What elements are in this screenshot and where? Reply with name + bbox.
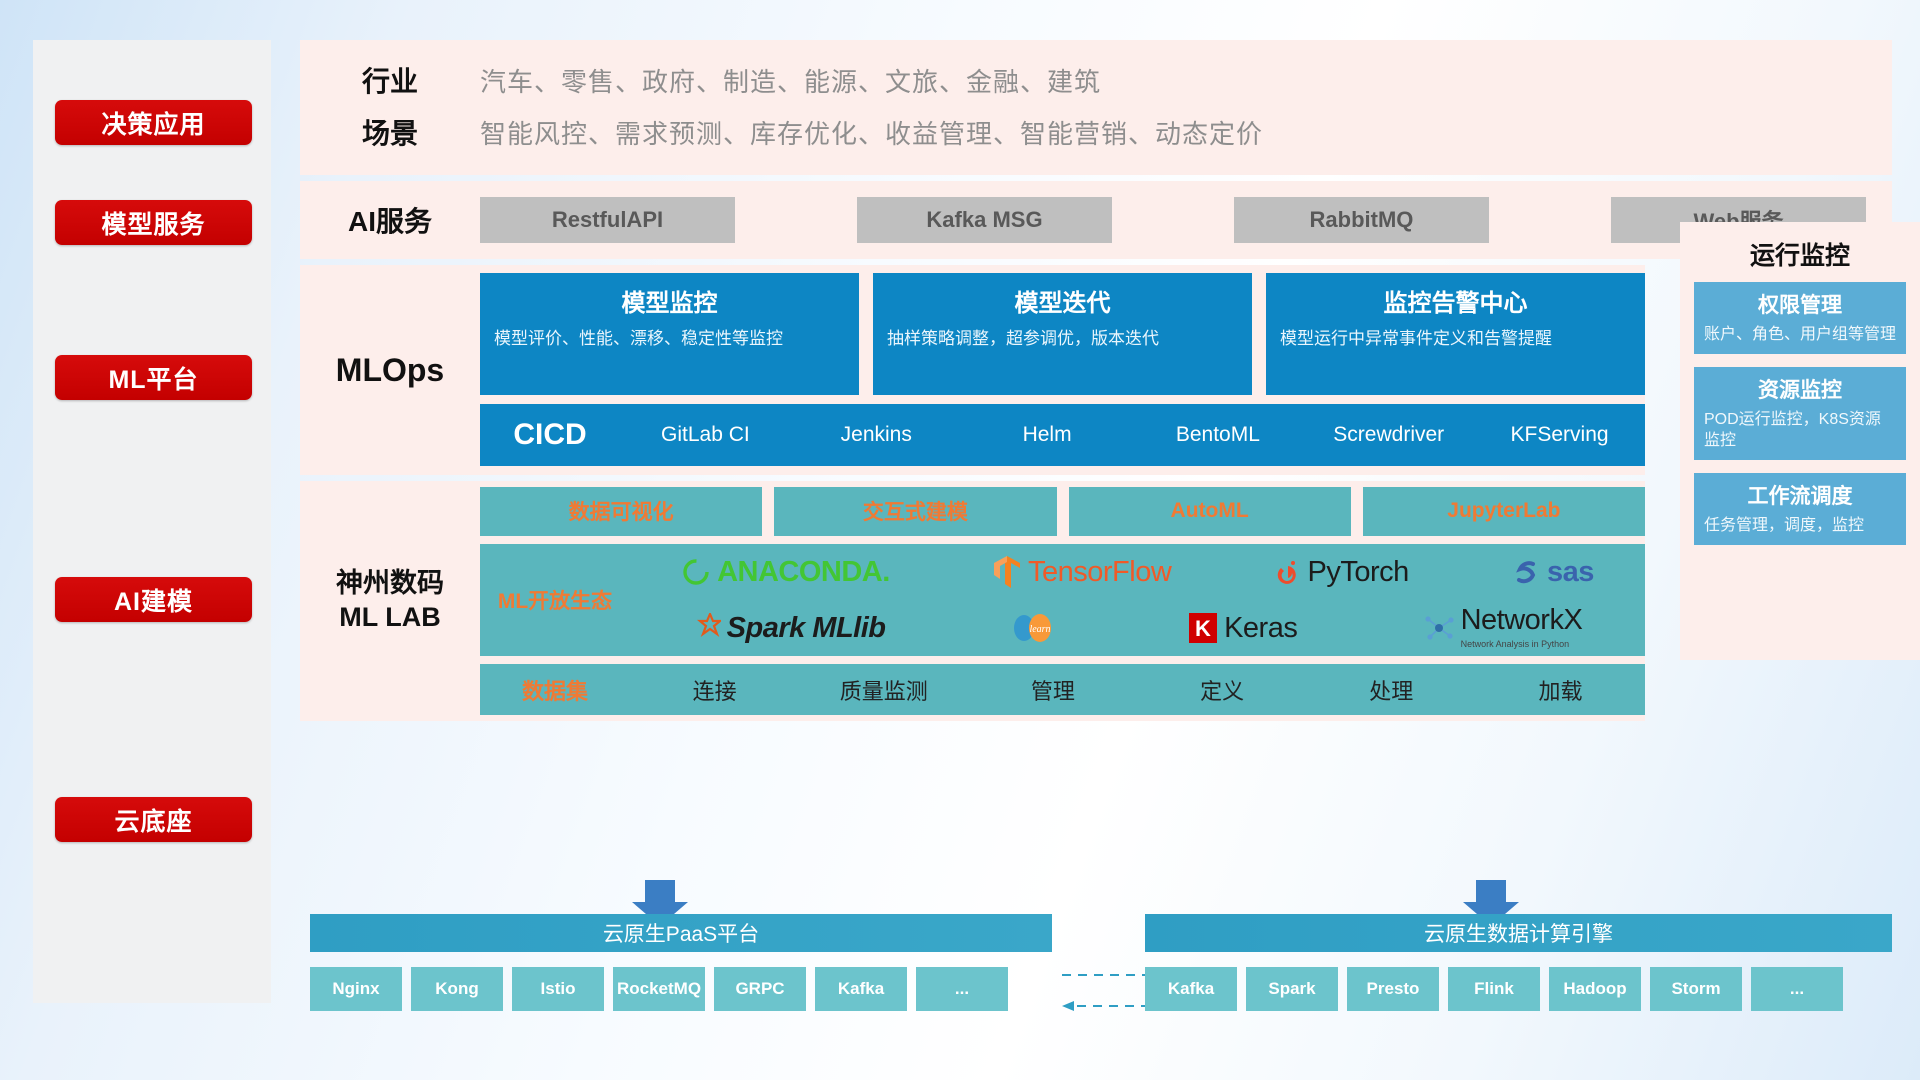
panel-card-resource-monitoring[interactable]: 资源监控 POD运行监控，K8S资源监控 — [1694, 367, 1906, 460]
cicd-item-jenkins[interactable]: Jenkins — [791, 424, 962, 446]
panel-card-workflow-scheduling[interactable]: 工作流调度 任务管理，调度，监控 — [1694, 473, 1906, 545]
engine-title-bar: 云原生数据计算引擎 — [1145, 914, 1892, 952]
ml-lab-label-line1: 神州数码 — [336, 567, 444, 601]
cicd-item-screwdriver[interactable]: Screwdriver — [1303, 424, 1474, 446]
cicd-item-helm[interactable]: Helm — [962, 424, 1133, 446]
keras-logo-text: Keras — [1224, 612, 1297, 645]
rail-badge-decision-app[interactable]: 决策应用 — [55, 100, 252, 145]
ml-lab-label: 神州数码 ML LAB — [300, 481, 480, 721]
engine-chip-flink[interactable]: Flink — [1448, 967, 1540, 1011]
card-title: 模型监控 — [494, 283, 845, 318]
pytorch-logo: PyTorch — [1274, 556, 1409, 589]
cicd-item-gitlab-ci[interactable]: GitLab CI — [620, 424, 791, 446]
lab-tab-interactive-modeling[interactable]: 交互式建模 — [774, 487, 1056, 536]
band-mlops: MLOps 模型监控 模型评价、性能、漂移、稳定性等监控 模型迭代 抽样策略调整… — [300, 265, 1645, 475]
lab-tab-automl[interactable]: AutoML — [1069, 487, 1351, 536]
dataset-item-list: 连接 质量监测 管理 定义 处理 加载 — [630, 674, 1645, 706]
card-desc: POD运行监控，K8S资源监控 — [1704, 409, 1896, 451]
spark-logo-text: Spark MLlib — [727, 612, 886, 645]
card-title: 资源监控 — [1704, 374, 1896, 404]
left-rail: 决策应用 模型服务 ML平台 AI建模 云底座 — [33, 40, 271, 1003]
rail-badge-ai-modeling[interactable]: AI建模 — [55, 577, 252, 622]
dataset-label: 数据集 — [480, 674, 630, 706]
ai-chip-rabbitmq[interactable]: RabbitMQ — [1234, 197, 1489, 243]
keras-icon: K — [1188, 612, 1218, 644]
rail-badge-model-service[interactable]: 模型服务 — [55, 200, 252, 245]
dataset-item-manage[interactable]: 管理 — [968, 674, 1137, 706]
paas-group: 云原生PaaS平台 Nginx Kong Istio RocketMQ GRPC… — [310, 914, 1052, 1011]
mlops-card-list: 模型监控 模型评价、性能、漂移、稳定性等监控 模型迭代 抽样策略调整，超参调优，… — [480, 273, 1645, 395]
main-architecture-column: 行业 汽车、零售、政府、制造、能源、文旅、金融、建筑 场景 智能风控、需求预测、… — [300, 40, 1892, 727]
networkx-logo-text: NetworkX — [1461, 606, 1583, 635]
anaconda-logo-text: ANACONDA. — [717, 556, 890, 589]
svg-text:learn: learn — [1029, 624, 1050, 635]
card-desc: 模型评价、性能、漂移、稳定性等监控 — [494, 328, 845, 351]
paas-chip-kong[interactable]: Kong — [411, 967, 503, 1011]
engine-chip-spark[interactable]: Spark — [1246, 967, 1338, 1011]
engine-chip-hadoop[interactable]: Hadoop — [1549, 967, 1641, 1011]
ml-ecosystem-row: ML开放生态 ANACONDA. — [480, 544, 1645, 657]
sas-logo-text: sas — [1547, 556, 1594, 589]
rail-badge-cloud-base[interactable]: 云底座 — [55, 797, 252, 842]
industry-values: 汽车、零售、政府、制造、能源、文旅、金融、建筑 — [480, 62, 1101, 99]
engine-chip-storm[interactable]: Storm — [1650, 967, 1742, 1011]
anaconda-icon — [681, 557, 711, 587]
sas-icon — [1511, 557, 1541, 587]
engine-chip-kafka[interactable]: Kafka — [1145, 967, 1237, 1011]
band-ai-service: AI服务 RestfulAPI Kafka MSG RabbitMQ Web服务 — [300, 181, 1892, 259]
band-decision-applications: 行业 汽车、零售、政府、制造、能源、文旅、金融、建筑 场景 智能风控、需求预测、… — [300, 40, 1892, 175]
compute-engine-group: 云原生数据计算引擎 Kafka Spark Presto Flink Hadoo… — [1145, 914, 1892, 1011]
ml-lab-content: 数据可视化 交互式建模 AutoML JupyterLab ML开放生态 ANA… — [480, 481, 1645, 721]
card-title: 监控告警中心 — [1280, 283, 1631, 318]
svg-text:K: K — [1195, 616, 1211, 641]
mlops-label: MLOps — [300, 265, 480, 475]
card-title: 工作流调度 — [1704, 480, 1896, 510]
ml-ecosystem-label: ML开放生态 — [480, 585, 630, 615]
lab-tab-data-visualization[interactable]: 数据可视化 — [480, 487, 762, 536]
industry-row: 行业 汽车、零售、政府、制造、能源、文旅、金融、建筑 — [300, 54, 1892, 106]
cicd-item-list: GitLab CI Jenkins Helm BentoML Screwdriv… — [620, 424, 1645, 446]
paas-chip-rocketmq[interactable]: RocketMQ — [613, 967, 705, 1011]
tensorflow-logo-text: TensorFlow — [1028, 556, 1171, 589]
band-ml-lab: 神州数码 ML LAB 数据可视化 交互式建模 AutoML JupyterLa… — [300, 481, 1645, 721]
ecosystem-logo-row-1: ANACONDA. TensorFlow — [630, 545, 1645, 599]
networkx-icon — [1423, 613, 1455, 643]
spark-mllib-logo: Spark MLlib — [693, 612, 886, 645]
pytorch-logo-text: PyTorch — [1308, 556, 1409, 589]
ai-chip-kafka-msg[interactable]: Kafka MSG — [857, 197, 1112, 243]
scenario-values: 智能风控、需求预测、库存优化、收益管理、智能营销、动态定价 — [480, 114, 1263, 151]
card-title: 模型迭代 — [887, 283, 1238, 318]
paas-chip-kafka[interactable]: Kafka — [815, 967, 907, 1011]
dataset-item-connect[interactable]: 连接 — [630, 674, 799, 706]
cicd-item-kfserving[interactable]: KFServing — [1474, 424, 1645, 446]
cloud-foundation-section: 云原生PaaS平台 Nginx Kong Istio RocketMQ GRPC… — [300, 880, 1892, 1030]
card-desc: 账户、角色、用户组等管理 — [1704, 324, 1896, 345]
mlops-card-model-monitoring[interactable]: 模型监控 模型评价、性能、漂移、稳定性等监控 — [480, 273, 859, 395]
keras-logo: K Keras — [1188, 612, 1297, 645]
ml-lab-tab-list: 数据可视化 交互式建模 AutoML JupyterLab — [480, 487, 1645, 536]
dataset-item-define[interactable]: 定义 — [1138, 674, 1307, 706]
panel-card-permission-management[interactable]: 权限管理 账户、角色、用户组等管理 — [1694, 282, 1906, 354]
ml-lab-label-line2: ML LAB — [336, 601, 444, 635]
paas-chip-nginx[interactable]: Nginx — [310, 967, 402, 1011]
sas-logo: sas — [1511, 556, 1594, 589]
paas-chip-istio[interactable]: Istio — [512, 967, 604, 1011]
lab-tab-jupyterlab[interactable]: JupyterLab — [1363, 487, 1645, 536]
scikit-learn-logo: learn scikit learn — [1011, 612, 1063, 644]
tensorflow-logo: TensorFlow — [992, 555, 1171, 589]
scenario-label: 场景 — [300, 112, 480, 152]
networkx-logo-subtitle: Network Analysis in Python — [1461, 639, 1570, 649]
ai-service-label: AI服务 — [300, 200, 480, 240]
mlops-content: 模型监控 模型评价、性能、漂移、稳定性等监控 模型迭代 抽样策略调整，超参调优，… — [480, 265, 1645, 475]
ecosystem-logo-row-2: Spark MLlib learn scikit learn — [630, 601, 1645, 655]
engine-chip-list: Kafka Spark Presto Flink Hadoop Storm ..… — [1145, 967, 1892, 1011]
mlops-card-alert-center[interactable]: 监控告警中心 模型运行中异常事件定义和告警提醒 — [1266, 273, 1645, 395]
paas-chip-grpc[interactable]: GRPC — [714, 967, 806, 1011]
dataset-item-process[interactable]: 处理 — [1307, 674, 1476, 706]
cicd-label: CICD — [480, 418, 620, 452]
card-desc: 任务管理，调度，监控 — [1704, 515, 1896, 536]
engine-chip-more[interactable]: ... — [1751, 967, 1843, 1011]
scikit-learn-icon: learn — [1011, 612, 1057, 644]
runtime-monitoring-title: 运行监控 — [1694, 236, 1906, 272]
scenario-row: 场景 智能风控、需求预测、库存优化、收益管理、智能营销、动态定价 — [300, 106, 1892, 158]
runtime-monitoring-panel: 运行监控 权限管理 账户、角色、用户组等管理 资源监控 POD运行监控，K8S资… — [1680, 222, 1920, 660]
pytorch-icon — [1274, 556, 1302, 588]
ai-chip-restfulapi[interactable]: RestfulAPI — [480, 197, 735, 243]
anaconda-logo: ANACONDA. — [681, 556, 890, 589]
ml-ecosystem-logos: ANACONDA. TensorFlow — [630, 545, 1645, 655]
card-desc: 模型运行中异常事件定义和告警提醒 — [1280, 328, 1631, 351]
cicd-item-bentoml[interactable]: BentoML — [1132, 424, 1303, 446]
networkx-logo: NetworkX Network Analysis in Python — [1423, 606, 1583, 651]
dataset-item-quality[interactable]: 质量监测 — [799, 674, 968, 706]
dataset-row: 数据集 连接 质量监测 管理 定义 处理 加载 — [480, 664, 1645, 715]
mlops-card-model-iteration[interactable]: 模型迭代 抽样策略调整，超参调优，版本迭代 — [873, 273, 1252, 395]
paas-chip-list: Nginx Kong Istio RocketMQ GRPC Kafka ... — [310, 967, 1052, 1011]
card-desc: 抽样策略调整，超参调优，版本迭代 — [887, 328, 1238, 351]
engine-chip-presto[interactable]: Presto — [1347, 967, 1439, 1011]
rail-badge-ml-platform[interactable]: ML平台 — [55, 355, 252, 400]
tensorflow-icon — [992, 555, 1022, 589]
paas-title-bar: 云原生PaaS平台 — [310, 914, 1052, 952]
cicd-bar: CICD GitLab CI Jenkins Helm BentoML Scre… — [480, 404, 1645, 466]
dataset-item-load[interactable]: 加载 — [1476, 674, 1645, 706]
industry-label: 行业 — [300, 60, 480, 100]
card-title: 权限管理 — [1704, 289, 1896, 319]
paas-chip-more[interactable]: ... — [916, 967, 1008, 1011]
spark-star-icon — [693, 613, 721, 643]
